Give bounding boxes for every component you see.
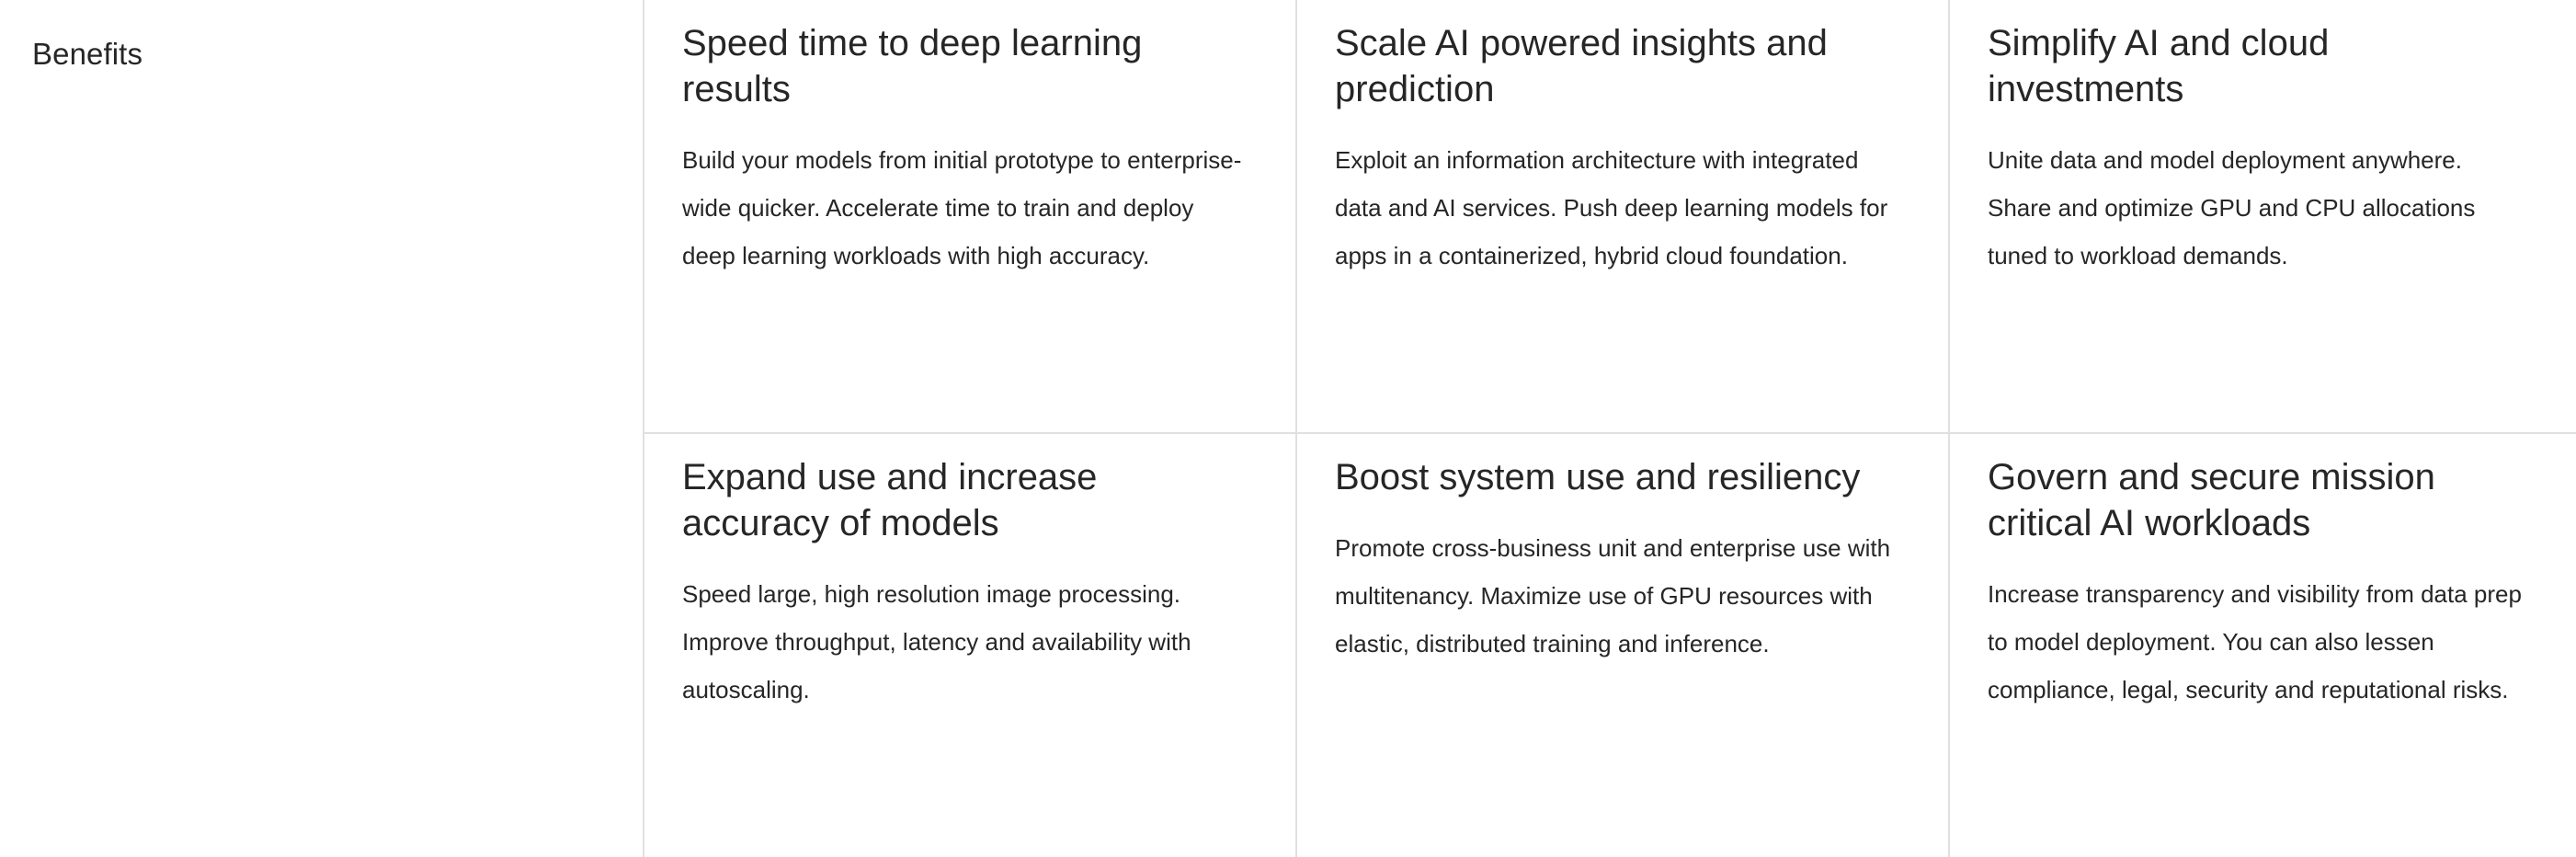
benefit-card-expand-use-and-increase-accuracy-of-models: Expand use and increase accuracy of mode… xyxy=(643,432,1295,857)
section-label-column: Benefits xyxy=(0,0,643,857)
benefit-card-title: Scale AI powered insights and prediction xyxy=(1335,20,1886,112)
benefit-card-title: Expand use and increase accuracy of mode… xyxy=(682,454,1234,546)
benefit-card-boost-system-use-and-resiliency: Boost system use and resiliency Promote … xyxy=(1295,432,1948,857)
benefit-card-speed-time-to-deep-learning-results: Speed time to deep learning results Buil… xyxy=(643,0,1295,432)
benefit-card-title: Govern and secure mission critical AI wo… xyxy=(1988,454,2525,546)
benefit-card-scale-ai-powered-insights-and-prediction: Scale AI powered insights and prediction… xyxy=(1295,0,1948,432)
benefits-card-grid: Speed time to deep learning results Buil… xyxy=(643,0,2576,857)
benefit-card-description: Unite data and model deployment anywhere… xyxy=(1988,136,2525,280)
benefit-card-description: Exploit an information architecture with… xyxy=(1335,136,1897,280)
benefit-card-govern-and-secure-mission-critical-ai-workloads: Govern and secure mission critical AI wo… xyxy=(1948,432,2576,857)
benefit-card-title: Speed time to deep learning results xyxy=(682,20,1234,112)
page-title: Benefits xyxy=(32,22,613,74)
benefit-card-description: Speed large, high resolution image proce… xyxy=(682,570,1243,714)
benefit-card-description: Promote cross-business unit and enterpri… xyxy=(1335,524,1897,668)
benefit-card-description: Increase transparency and visibility fro… xyxy=(1988,570,2525,714)
benefit-card-title: Boost system use and resiliency xyxy=(1335,454,1886,500)
benefit-card-title: Simplify AI and cloud investments xyxy=(1988,20,2525,112)
benefits-section: Benefits Speed time to deep learning res… xyxy=(0,0,2576,857)
benefit-card-simplify-ai-and-cloud-investments: Simplify AI and cloud investments Unite … xyxy=(1948,0,2576,432)
benefit-card-description: Build your models from initial prototype… xyxy=(682,136,1243,280)
